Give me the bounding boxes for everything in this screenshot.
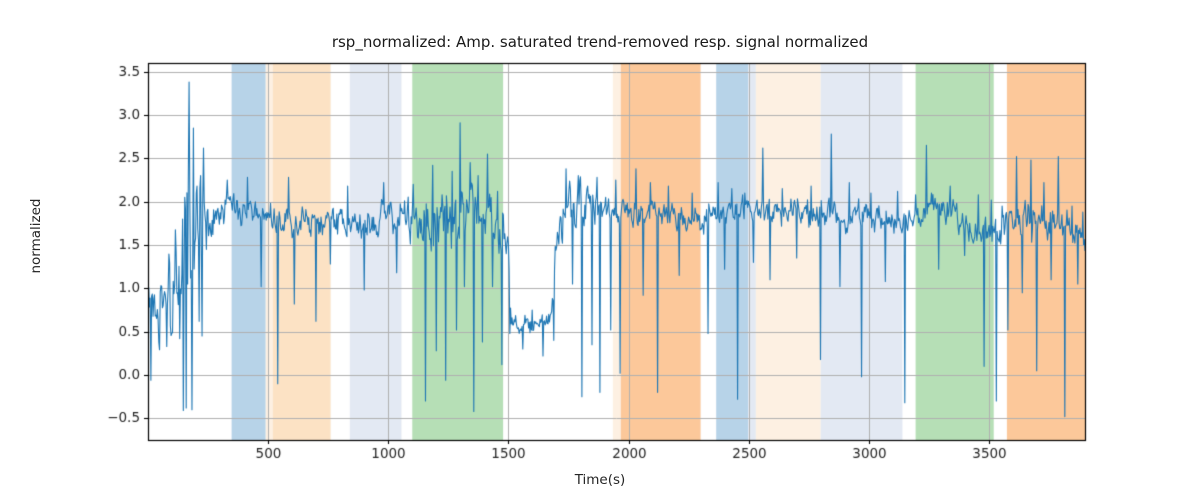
x-axis-label: Time(s)	[0, 472, 1200, 488]
y-axis-label: normalized	[28, 176, 44, 296]
figure-canvas-container: rsp_normalized: Amp. saturated trend-rem…	[0, 0, 1200, 500]
line-chart-canvas	[0, 0, 1200, 500]
chart-title: rsp_normalized: Amp. saturated trend-rem…	[0, 33, 1200, 51]
